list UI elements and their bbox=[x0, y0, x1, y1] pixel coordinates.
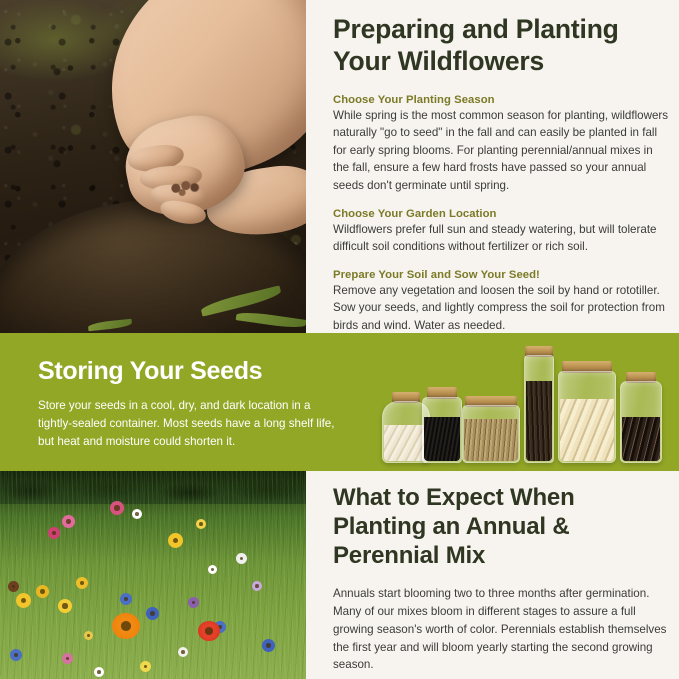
flower bbox=[110, 501, 124, 515]
flower bbox=[120, 593, 132, 605]
flower bbox=[48, 527, 60, 539]
subheading-garden-location: Choose Your Garden Location bbox=[333, 208, 669, 220]
seed-jar bbox=[558, 371, 616, 463]
flower bbox=[168, 533, 183, 548]
subheading-prepare-soil: Prepare Your Soil and Sow Your Seed! bbox=[333, 269, 669, 281]
jar-contents bbox=[464, 419, 518, 461]
body-planting-season: While spring is the most common season f… bbox=[333, 107, 669, 195]
flower-orange-poppy bbox=[112, 613, 140, 639]
hand-sowing-seeds-photo bbox=[0, 0, 306, 333]
seeds-in-hand bbox=[167, 176, 205, 200]
flower bbox=[76, 577, 88, 589]
seed-jars-photo bbox=[378, 341, 668, 469]
body-prepare-soil: Remove any vegetation and loosen the soi… bbox=[333, 282, 669, 335]
jar-contents bbox=[560, 399, 614, 461]
what-to-expect-article: What to Expect When Planting an Annual &… bbox=[306, 471, 679, 679]
article-bottom-body: Annuals start blooming two to three mont… bbox=[333, 585, 669, 674]
flower bbox=[236, 553, 247, 564]
flower bbox=[140, 661, 151, 672]
wildflower-meadow-photo bbox=[0, 471, 306, 679]
band-text-block: Storing Your Seeds Store your seeds in a… bbox=[38, 357, 338, 451]
seed-jar bbox=[524, 355, 554, 463]
seed-jar bbox=[462, 405, 520, 463]
band-body: Store your seeds in a cool, dry, and dar… bbox=[38, 397, 338, 451]
flower bbox=[188, 597, 199, 608]
flower bbox=[58, 599, 72, 613]
flower bbox=[16, 593, 31, 608]
article-top-heading: Preparing and Planting Your Wildflowers bbox=[333, 14, 669, 78]
body-garden-location: Wildflowers prefer full sun and steady w… bbox=[333, 221, 669, 256]
flower bbox=[252, 581, 262, 591]
seed-jar bbox=[620, 381, 662, 463]
flower bbox=[84, 631, 93, 640]
band-heading: Storing Your Seeds bbox=[38, 357, 338, 386]
storing-your-seeds-band: Storing Your Seeds Store your seeds in a… bbox=[0, 333, 679, 471]
flower bbox=[62, 515, 75, 528]
article-bottom-heading: What to Expect When Planting an Annual &… bbox=[333, 483, 669, 570]
flower bbox=[196, 519, 206, 529]
flower bbox=[8, 581, 19, 592]
flower-red-poppy bbox=[198, 621, 220, 641]
seed-jar bbox=[422, 397, 462, 463]
flower bbox=[132, 509, 142, 519]
flower bbox=[36, 585, 49, 598]
preparing-and-planting-article: Preparing and Planting Your Wildflowers … bbox=[306, 0, 679, 333]
flower bbox=[262, 639, 275, 652]
flower bbox=[178, 647, 188, 657]
jar-contents bbox=[424, 417, 460, 461]
flower bbox=[10, 649, 22, 661]
jar-contents bbox=[622, 417, 660, 461]
jar-contents bbox=[526, 381, 552, 461]
flower bbox=[62, 653, 73, 664]
grass-texture bbox=[0, 471, 306, 679]
flower bbox=[208, 565, 217, 574]
subheading-planting-season: Choose Your Planting Season bbox=[333, 94, 669, 106]
flower bbox=[94, 667, 104, 677]
infographic-page: Preparing and Planting Your Wildflowers … bbox=[0, 0, 679, 679]
flower bbox=[146, 607, 159, 620]
